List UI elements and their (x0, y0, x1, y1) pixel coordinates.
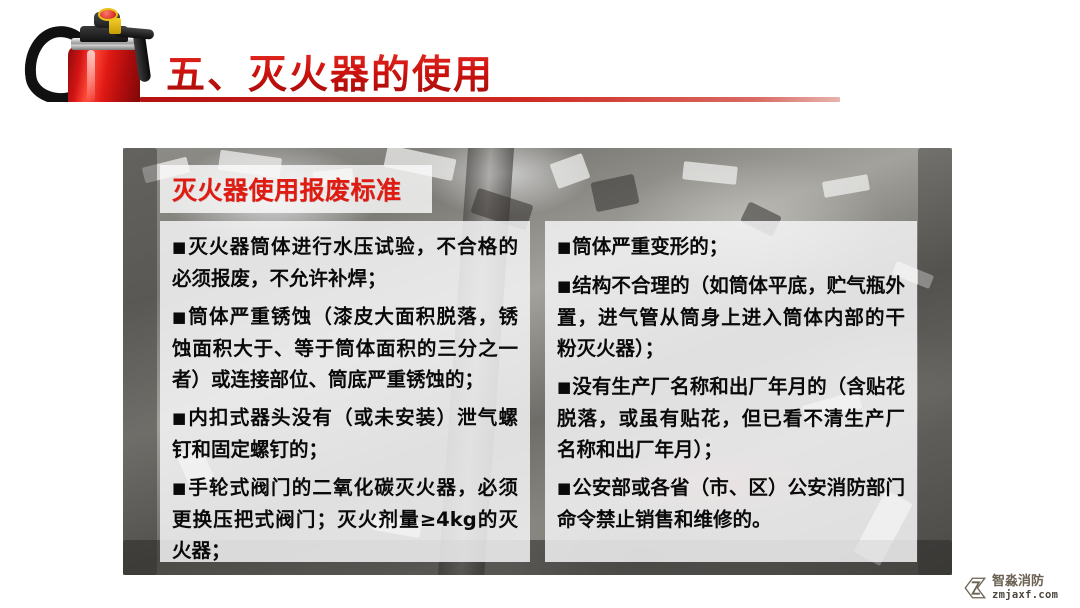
section-title-banner: 灭火器使用报废标准 (160, 165, 432, 213)
extinguisher-body (68, 46, 140, 102)
list-item-text: 没有生产厂名称和出厂年月的（含贴花脱落，或虽有贴花，但已看不清生产厂名称和出厂年… (557, 375, 905, 461)
slide-header: 五、灭火器的使用 (0, 0, 1080, 120)
title-underline-rule (140, 97, 840, 102)
fire-extinguisher-icon (10, 2, 170, 102)
list-item: ■没有生产厂名称和出厂年月的（含贴花脱落，或虽有贴花，但已看不清生产厂名称和出厂… (557, 371, 905, 465)
list-item: ■灭火器筒体进行水压试验，不合格的必须报废，不允许补焊； (172, 231, 518, 294)
criteria-column-left: ■灭火器筒体进行水压试验，不合格的必须报废，不允许补焊； ■筒体严重锈蚀（漆皮大… (160, 221, 530, 562)
list-item: ■筒体严重变形的； (557, 231, 905, 263)
watermark: 智淼消防 zmjaxf.com (962, 571, 1074, 605)
list-item-text: 筒体严重锈蚀（漆皮大面积脱落，锈蚀面积大于、等于筒体面积的三分之一者）或连接部位… (172, 305, 518, 391)
square-bullet-icon: ■ (557, 378, 571, 396)
list-item: ■内扣式器头没有（或未安装）泄气螺钉和固定螺钉的； (172, 402, 518, 465)
diamond-logo-icon (962, 575, 988, 601)
square-bullet-icon: ■ (172, 308, 187, 326)
section-title-text: 灭火器使用报废标准 (172, 171, 402, 207)
square-bullet-icon: ■ (557, 238, 571, 256)
list-item: ■结构不合理的（如筒体平底，贮气瓶外置，进气管从筒身上进入筒体内部的干粉灭火器）… (557, 270, 905, 364)
list-item: ■筒体严重锈蚀（漆皮大面积脱落，锈蚀面积大于、等于筒体面积的三分之一者）或连接部… (172, 301, 518, 395)
square-bullet-icon: ■ (172, 409, 187, 427)
square-bullet-icon: ■ (557, 277, 571, 295)
square-bullet-icon: ■ (172, 238, 187, 256)
square-bullet-icon: ■ (557, 479, 571, 497)
criteria-column-right: ■筒体严重变形的； ■结构不合理的（如筒体平底，贮气瓶外置，进气管从筒身上进入筒… (545, 221, 917, 562)
list-item: ■手轮式阀门的二氧化碳灭火器，必须更换压把式阀门；灭火剂量≥4kg的灭火器； (172, 472, 518, 566)
watermark-brand: 智淼消防 (992, 575, 1058, 588)
list-item-text: 筒体严重变形的； (572, 235, 728, 258)
extinguisher-safety-pin (98, 8, 118, 21)
watermark-url: zmjaxf.com (992, 590, 1058, 601)
list-item: ■公安部或各省（市、区）公安消防部门命令禁止销售和维修的。 (557, 472, 905, 535)
list-item-text: 内扣式器头没有（或未安装）泄气螺钉和固定螺钉的； (172, 406, 518, 461)
list-item-text: 公安部或各省（市、区）公安消防部门命令禁止销售和维修的。 (557, 476, 905, 531)
square-bullet-icon: ■ (172, 479, 187, 497)
page-title: 五、灭火器的使用 (166, 44, 494, 100)
list-item-text: 手轮式阀门的二氧化碳灭火器，必须更换压把式阀门；灭火剂量≥4kg的灭火器； (172, 476, 518, 562)
list-item-text: 灭火器筒体进行水压试验，不合格的必须报废，不允许补焊； (172, 235, 518, 290)
list-item-text: 结构不合理的（如筒体平底，贮气瓶外置，进气管从筒身上进入筒体内部的干粉灭火器）； (557, 274, 905, 360)
